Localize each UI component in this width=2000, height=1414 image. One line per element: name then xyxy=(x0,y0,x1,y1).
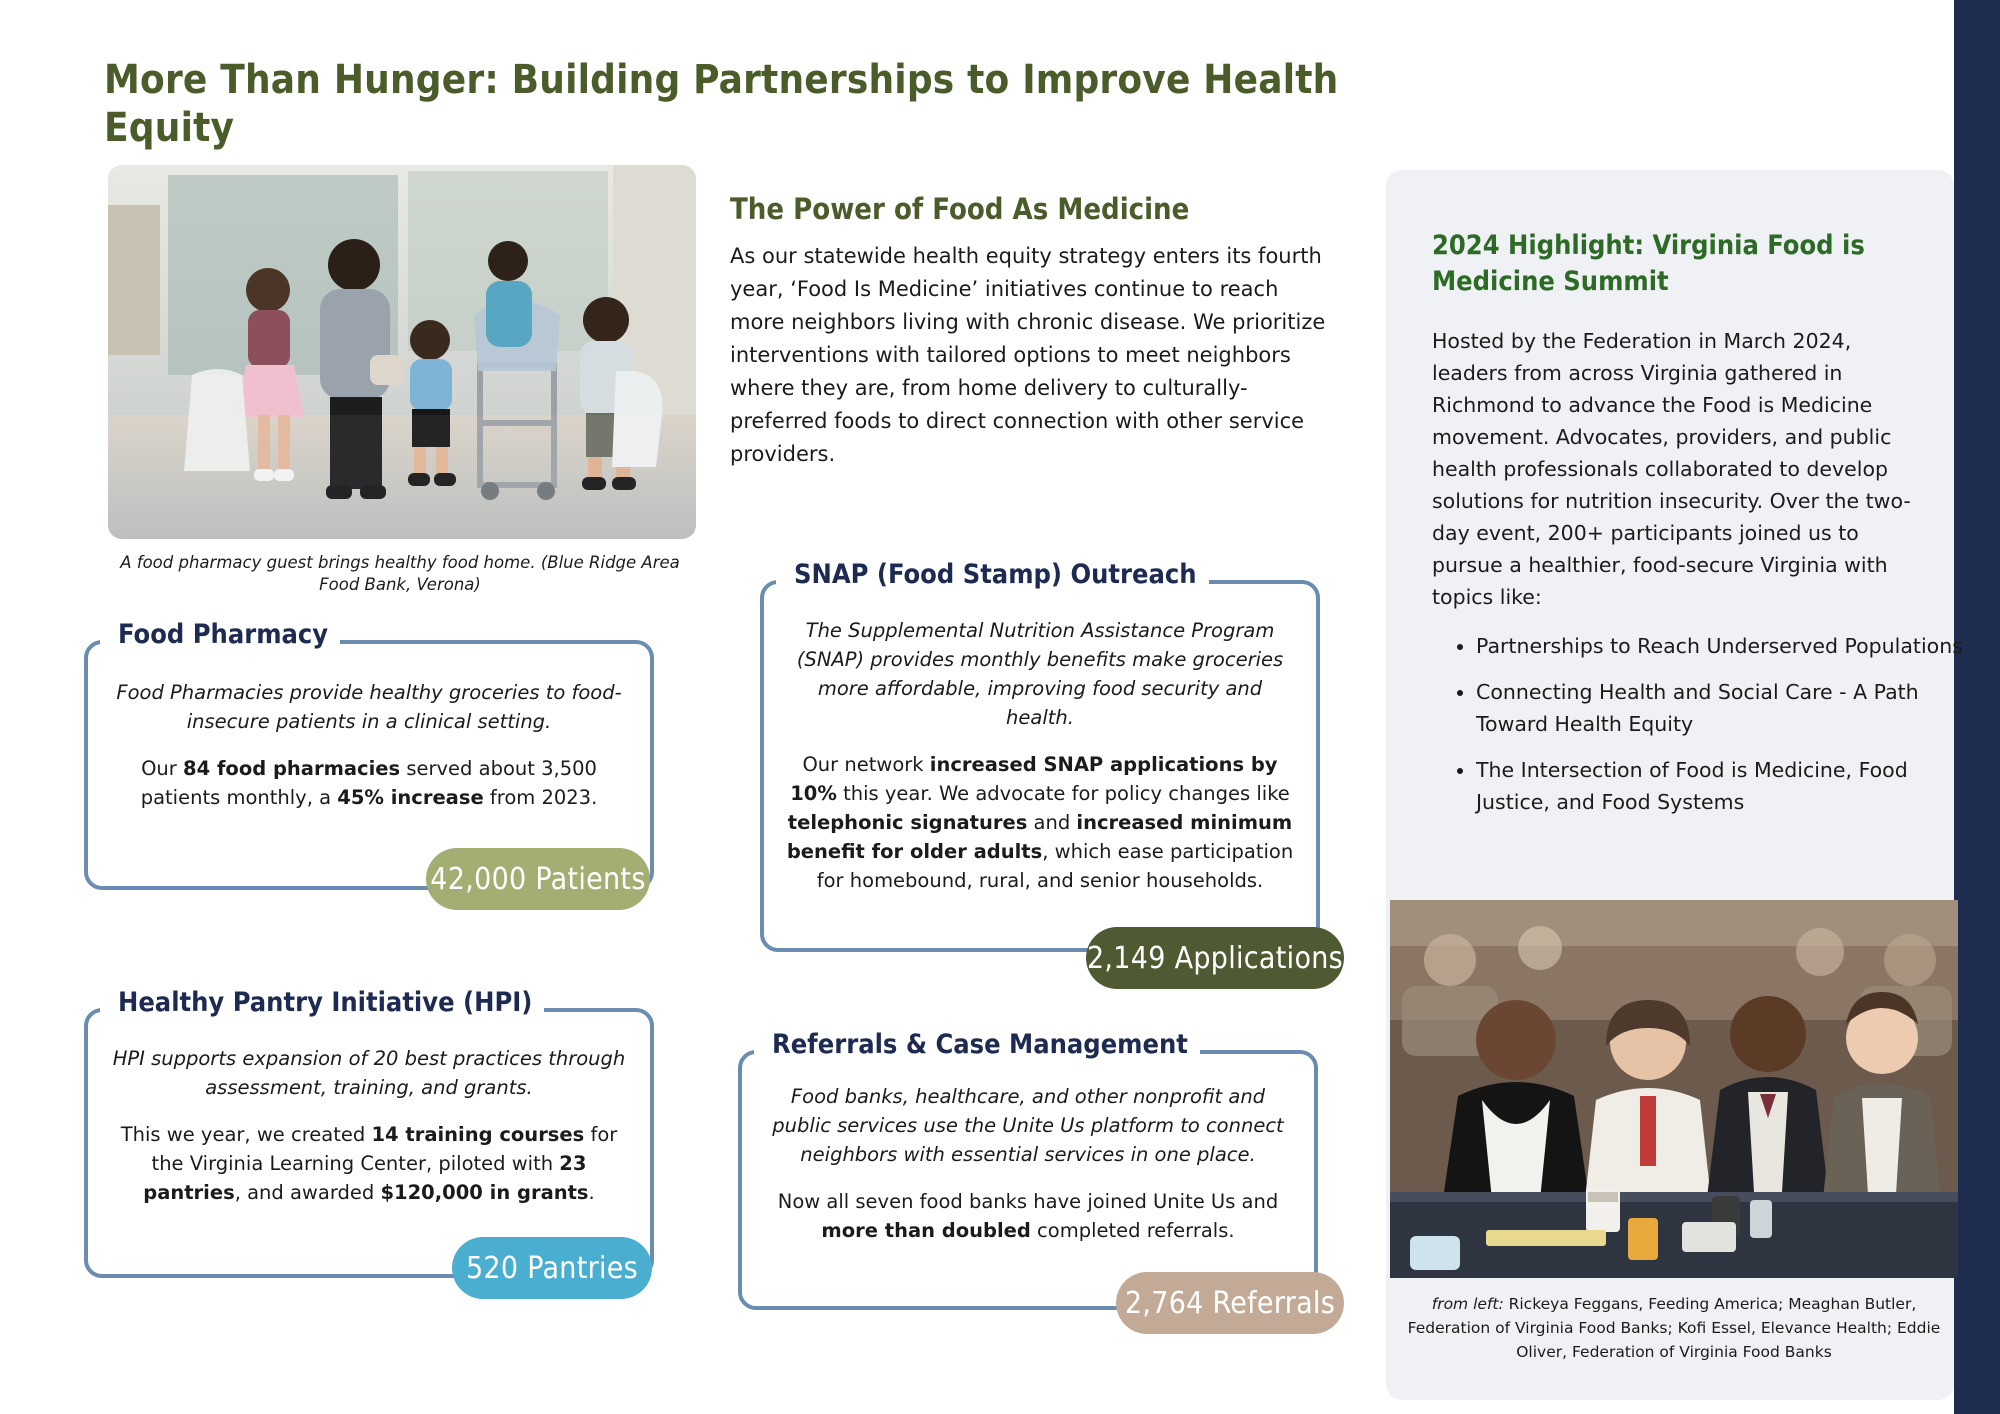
callout-italic-text: Food Pharmacies provide healthy grocerie… xyxy=(110,678,628,736)
hero-photo-caption: A food pharmacy guest brings healthy foo… xyxy=(100,552,700,596)
food-pharmacy-photo xyxy=(108,165,696,539)
callout-heading: Referrals & Case Management xyxy=(760,1029,1200,1060)
caption-lead: from left: xyxy=(1432,1295,1504,1313)
stat-pill-referrals: 2,764 Referrals xyxy=(1116,1272,1344,1334)
callout-italic-text: HPI supports expansion of 20 best practi… xyxy=(110,1044,628,1102)
section-heading-food-as-medicine: The Power of Food As Medicine xyxy=(730,192,1350,226)
sidebar-photo-caption: from left: Rickeya Feggans, Feeding Amer… xyxy=(1396,1292,1952,1364)
callout-rich-text: Our network increased SNAP applications … xyxy=(786,750,1294,895)
callout-italic-text: The Supplemental Nutrition Assistance Pr… xyxy=(786,616,1294,732)
summit-group-photo xyxy=(1390,900,1958,1278)
callout-body: Food Pharmacies provide healthy grocerie… xyxy=(110,678,628,812)
callout-body: The Supplemental Nutrition Assistance Pr… xyxy=(786,616,1294,895)
callout-heading: Healthy Pantry Initiative (HPI) xyxy=(106,987,544,1018)
section-paragraph-food-as-medicine: As our statewide health equity strategy … xyxy=(730,240,1330,471)
callout-heading: Food Pharmacy xyxy=(106,619,340,650)
sidebar-title: 2024 Highlight: Virginia Food is Medicin… xyxy=(1432,228,1892,300)
newsletter-page: More Than Hunger: Building Partnerships … xyxy=(0,0,2000,1414)
sidebar-paragraph: Hosted by the Federation in March 2024, … xyxy=(1432,325,1918,613)
sidebar-topic-list: Partnerships to Reach Underserved Popula… xyxy=(1432,630,1966,832)
callout-italic-text: Food banks, healthcare, and other nonpro… xyxy=(764,1082,1292,1169)
page-title: More Than Hunger: Building Partnerships … xyxy=(104,56,1404,152)
sidebar-topic-item: The Intersection of Food is Medicine, Fo… xyxy=(1476,754,1966,818)
callout-rich-text: This we year, we created 14 training cou… xyxy=(110,1120,628,1207)
sidebar-topic-item: Connecting Health and Social Care - A Pa… xyxy=(1476,676,1966,740)
callout-snap-outreach: SNAP (Food Stamp) Outreach The Supplemen… xyxy=(760,580,1320,952)
stat-pill-pantries: 520 Pantries xyxy=(452,1237,652,1299)
callout-body: HPI supports expansion of 20 best practi… xyxy=(110,1044,628,1207)
callout-heading: SNAP (Food Stamp) Outreach xyxy=(782,559,1209,590)
sidebar-topic-item: Partnerships to Reach Underserved Popula… xyxy=(1476,630,1966,662)
stat-pill-applications: 2,149 Applications xyxy=(1086,927,1344,989)
stat-pill-patients: 42,000 Patients xyxy=(426,848,650,910)
callout-body: Food banks, healthcare, and other nonpro… xyxy=(764,1082,1292,1245)
callout-rich-text: Our 84 food pharmacies served about 3,50… xyxy=(110,754,628,812)
callout-rich-text: Now all seven food banks have joined Uni… xyxy=(764,1187,1292,1245)
callout-referrals-case-management: Referrals & Case Management Food banks, … xyxy=(738,1050,1318,1310)
